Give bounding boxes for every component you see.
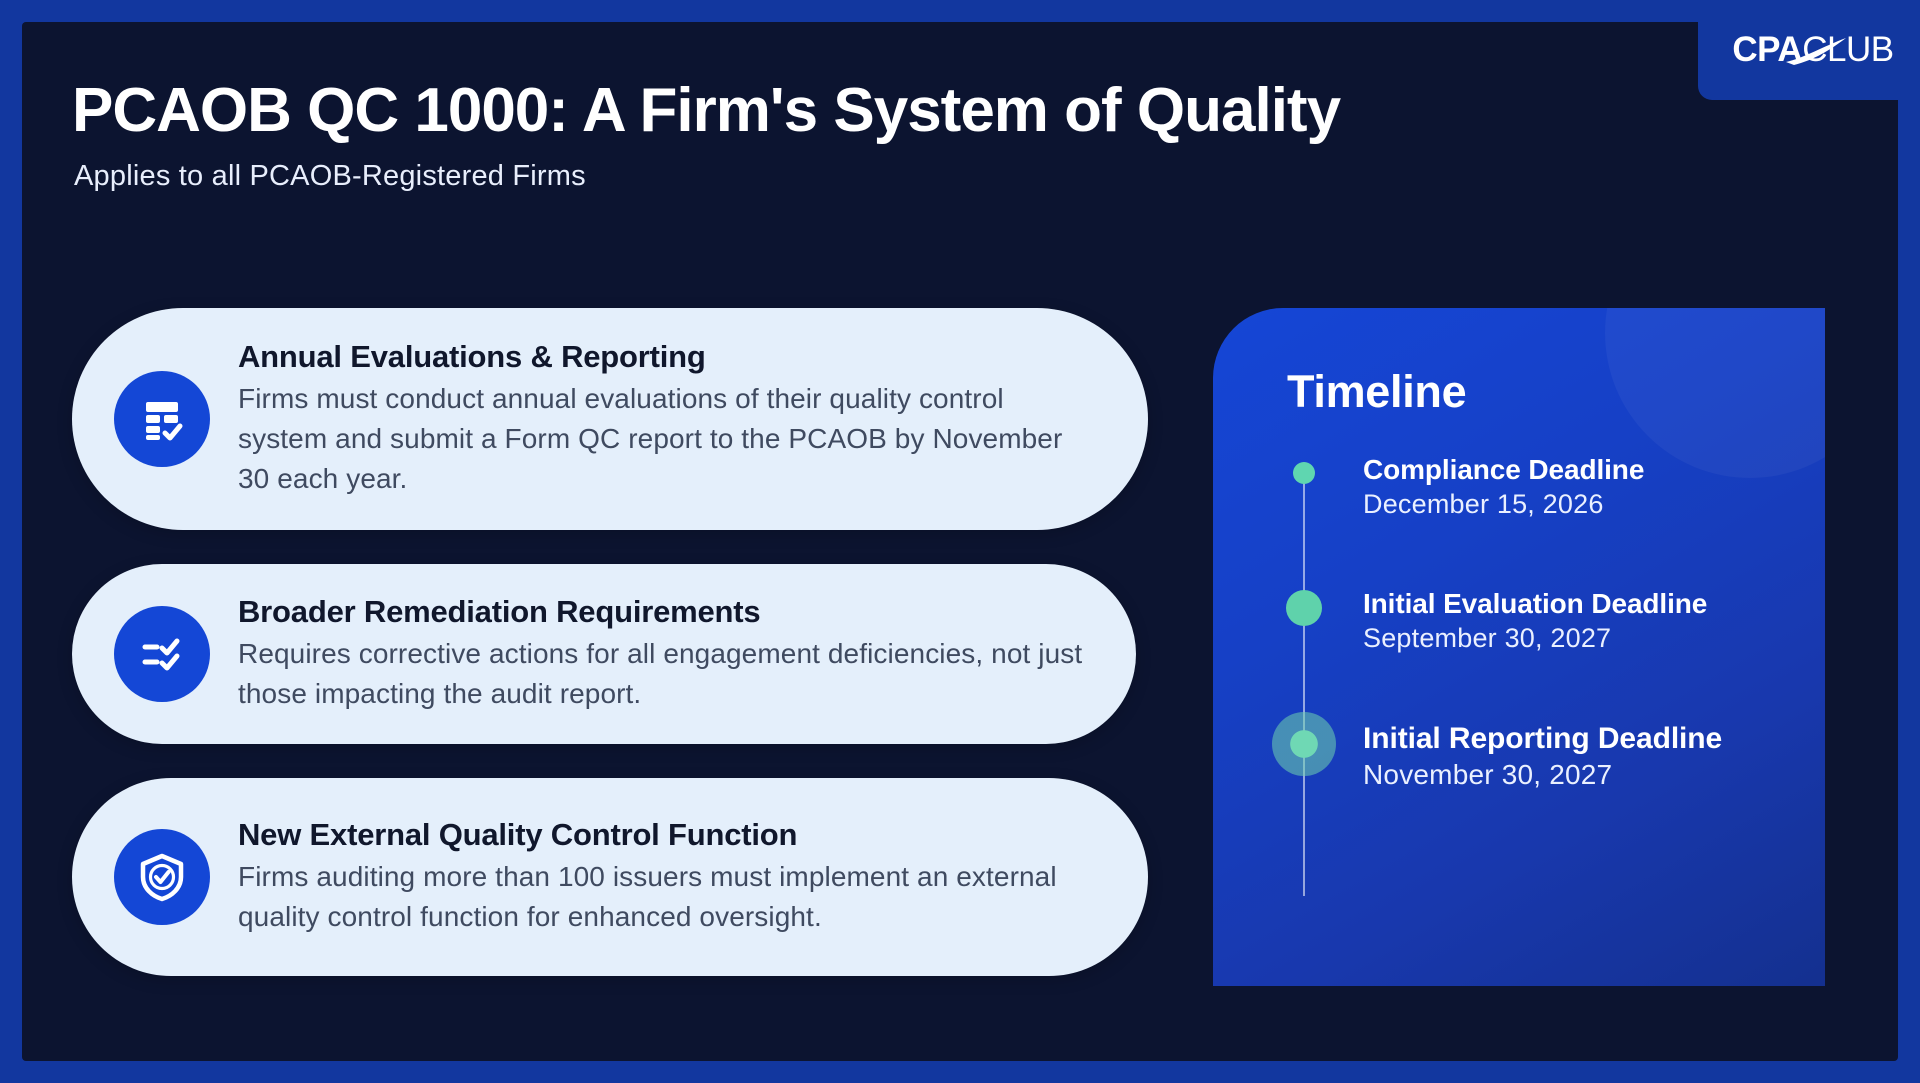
- feature-card-title: Annual Evaluations & Reporting: [238, 339, 1098, 375]
- feature-card-description: Firms must conduct annual evaluations of…: [238, 379, 1098, 498]
- brand-logo: CPACLUB: [1732, 30, 1893, 70]
- feature-card-title: Broader Remediation Requirements: [238, 594, 1086, 630]
- brand-logo-tab: CPACLUB: [1698, 0, 1920, 100]
- timeline-item: Initial Reporting Deadline November 30, …: [1213, 722, 1825, 808]
- feature-card-list: Annual Evaluations & Reporting Firms mus…: [72, 308, 1162, 1010]
- feature-card-body: Annual Evaluations & Reporting Firms mus…: [238, 339, 1108, 498]
- timeline-item-list: Compliance Deadline December 15, 2026 In…: [1213, 454, 1825, 856]
- timeline-item-label: Compliance Deadline: [1363, 454, 1801, 486]
- timeline-item-label: Initial Reporting Deadline: [1363, 722, 1801, 756]
- timeline-panel: Timeline Compliance Deadline December 15…: [1213, 308, 1825, 986]
- timeline-item-text: Initial Reporting Deadline November 30, …: [1363, 722, 1825, 791]
- feature-card-description: Firms auditing more than 100 issuers mus…: [238, 857, 1098, 937]
- timeline-item-date: September 30, 2027: [1363, 623, 1801, 654]
- timeline-item-date: December 15, 2026: [1363, 489, 1801, 520]
- timeline-marker-slot: [1229, 722, 1379, 776]
- feature-card-description: Requires corrective actions for all enga…: [238, 634, 1086, 714]
- logo-text-secondary: CLUB: [1802, 30, 1893, 70]
- report-table-check-icon: [114, 371, 210, 467]
- timeline-item-label: Initial Evaluation Deadline: [1363, 588, 1801, 620]
- feature-card: New External Quality Control Function Fi…: [72, 778, 1148, 976]
- decorative-circle: [1605, 308, 1825, 478]
- checklist-tasks-icon: [114, 606, 210, 702]
- timeline-dot-small-icon: [1293, 462, 1315, 484]
- page-title: PCAOB QC 1000: A Firm's System of Qualit…: [72, 75, 1340, 146]
- shield-check-icon: [114, 829, 210, 925]
- feature-card-body: Broader Remediation Requirements Require…: [238, 594, 1096, 714]
- timeline-item-date: November 30, 2027: [1363, 759, 1801, 791]
- infographic-root: CPACLUB PCAOB QC 1000: A Firm's System o…: [0, 0, 1920, 1083]
- timeline-item: Initial Evaluation Deadline September 30…: [1213, 588, 1825, 674]
- feature-card: Annual Evaluations & Reporting Firms mus…: [72, 308, 1148, 530]
- timeline-title: Timeline: [1287, 366, 1466, 418]
- feature-card-body: New External Quality Control Function Fi…: [238, 817, 1108, 937]
- timeline-item-text: Initial Evaluation Deadline September 30…: [1363, 588, 1825, 654]
- feature-card: Broader Remediation Requirements Require…: [72, 564, 1136, 744]
- timeline-marker-slot: [1229, 454, 1379, 484]
- feature-card-title: New External Quality Control Function: [238, 817, 1098, 853]
- timeline-dot-medium-icon: [1286, 590, 1322, 626]
- logo-text-primary: CPA: [1732, 30, 1802, 70]
- timeline-marker-slot: [1229, 588, 1379, 626]
- timeline-dot-large-halo-icon: [1272, 712, 1336, 776]
- timeline-item: Compliance Deadline December 15, 2026: [1213, 454, 1825, 540]
- page-subtitle: Applies to all PCAOB-Registered Firms: [74, 160, 586, 193]
- timeline-item-text: Compliance Deadline December 15, 2026: [1363, 454, 1825, 520]
